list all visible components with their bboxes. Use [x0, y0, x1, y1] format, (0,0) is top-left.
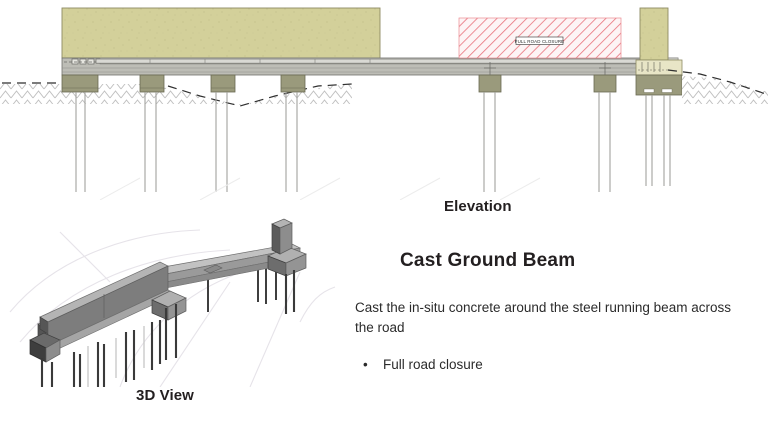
- beam-upright-post: [272, 219, 292, 254]
- bullet-marker: •: [363, 355, 368, 375]
- piles: [76, 92, 670, 192]
- right-abutment: [636, 8, 682, 95]
- elevation-drawing: FULL ROAD CLOSURE: [0, 0, 768, 200]
- full-road-closure-label: FULL ROAD CLOSURE: [515, 37, 564, 45]
- ground-hatch-right: [682, 76, 768, 104]
- list-item-label: Full road closure: [383, 357, 483, 372]
- three-d-piles-ghost: [88, 326, 144, 387]
- three-d-view-drawing: [0, 212, 340, 387]
- bullet-list: • Full road closure: [355, 355, 760, 375]
- page-title: Cast Ground Beam: [400, 250, 760, 272]
- closure-label-text: FULL ROAD CLOSURE: [515, 39, 564, 44]
- text-panel: Cast Ground Beam Cast the in-situ concre…: [355, 250, 760, 375]
- three-d-view-caption: 3D View: [136, 387, 194, 404]
- ghost-construction-lines: [100, 178, 540, 200]
- list-item: • Full road closure: [355, 355, 760, 375]
- description-text: Cast the in-situ concrete around the ste…: [355, 298, 740, 337]
- elevation-caption: Elevation: [444, 198, 512, 215]
- steel-running-beam: [96, 59, 656, 63]
